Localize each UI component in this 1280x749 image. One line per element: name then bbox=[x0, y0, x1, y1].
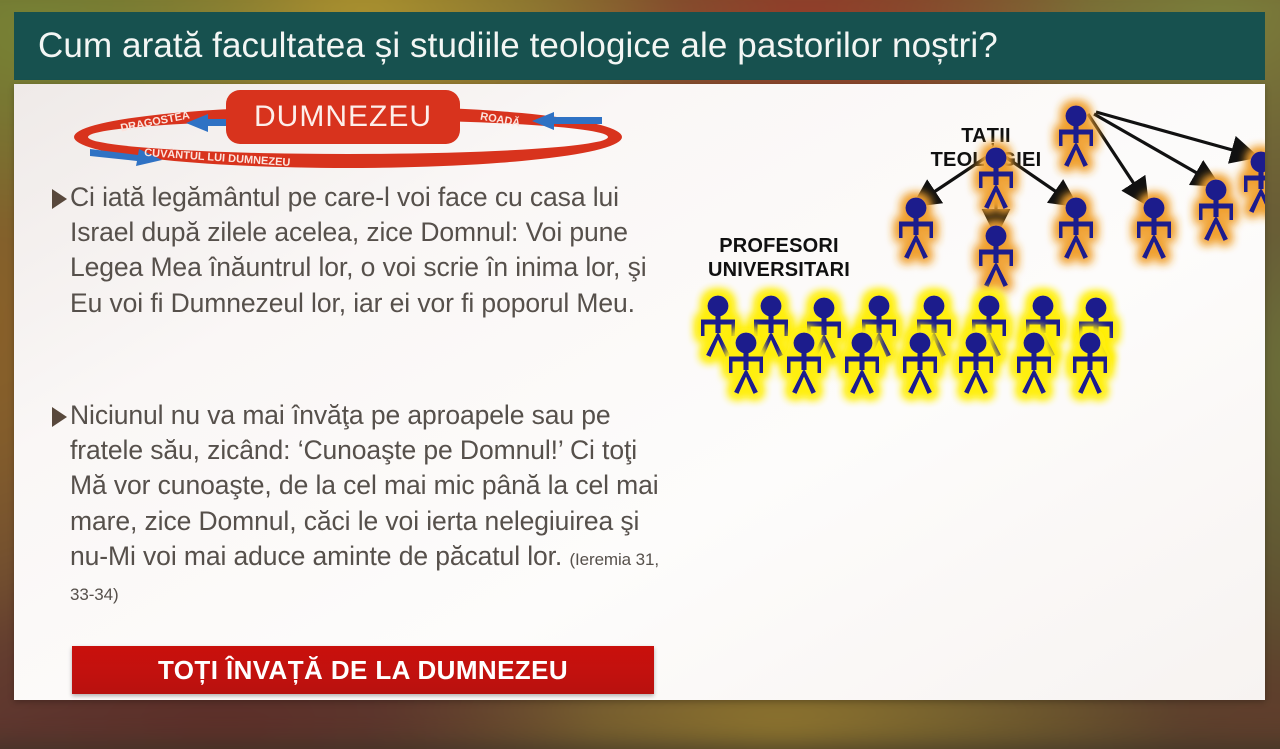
page-title: Cum arată facultatea și studiile teologi… bbox=[38, 26, 998, 66]
professor-figure bbox=[979, 226, 1013, 288]
god-cycle-diagram: DRAGOSTEA ROADĂ CUVÂNTUL LUI DUMNEZEU DU… bbox=[74, 90, 634, 172]
crowd-back-row bbox=[701, 296, 1113, 360]
bullet-1-text: Ci iată legământul pe care-l voi face cu… bbox=[70, 180, 662, 321]
crowd-figure bbox=[787, 333, 821, 395]
arrow-to-roada bbox=[526, 110, 604, 132]
bullet-triangle-icon bbox=[52, 189, 67, 209]
slide-title-band: Cum arată facultatea și studiile teologi… bbox=[14, 12, 1265, 80]
crowd-figure bbox=[807, 298, 841, 360]
conclusion-banner: TOȚI ÎNVAȚĂ DE LA DUMNEZEU bbox=[72, 646, 654, 694]
professor-figure bbox=[899, 198, 933, 260]
professor-figure bbox=[1244, 152, 1265, 214]
people-figures-graphic bbox=[676, 84, 1265, 700]
bullet-2-body: Niciunul nu va mai învăţa pe aproapele s… bbox=[70, 400, 659, 571]
slide-content-panel: DRAGOSTEA ROADĂ CUVÂNTUL LUI DUMNEZEU DU… bbox=[14, 84, 1265, 700]
hierarchy-diagram: TAȚII TEOLOGIEI PROFESORI UNIVERSITARI bbox=[676, 84, 1265, 700]
bullet-triangle-icon bbox=[52, 407, 67, 427]
crowd-figure bbox=[729, 333, 763, 395]
conclusion-banner-label: TOȚI ÎNVAȚĂ DE LA DUMNEZEU bbox=[158, 655, 568, 686]
left-content-column: DRAGOSTEA ROADĂ CUVÂNTUL LUI DUMNEZEU DU… bbox=[36, 84, 676, 700]
crowd-figure bbox=[1073, 333, 1107, 395]
professor-figures bbox=[899, 152, 1265, 288]
bullet-item-2: Niciunul nu va mai învăţa pe aproapele s… bbox=[52, 398, 664, 609]
crowd-figure bbox=[701, 296, 735, 358]
bullet-2-text: Niciunul nu va mai învăţa pe aproapele s… bbox=[70, 398, 664, 609]
crowd-front-row bbox=[729, 333, 1107, 395]
professor-figure bbox=[1199, 180, 1233, 242]
god-center-label: DUMNEZEU bbox=[226, 90, 460, 144]
crowd-figure bbox=[754, 296, 788, 358]
bullet-item-1: Ci iată legământul pe care-l voi face cu… bbox=[52, 180, 662, 321]
professor-figure bbox=[1059, 198, 1093, 260]
professor-figure bbox=[1137, 198, 1171, 260]
god-center-box: DUMNEZEU bbox=[226, 90, 460, 144]
